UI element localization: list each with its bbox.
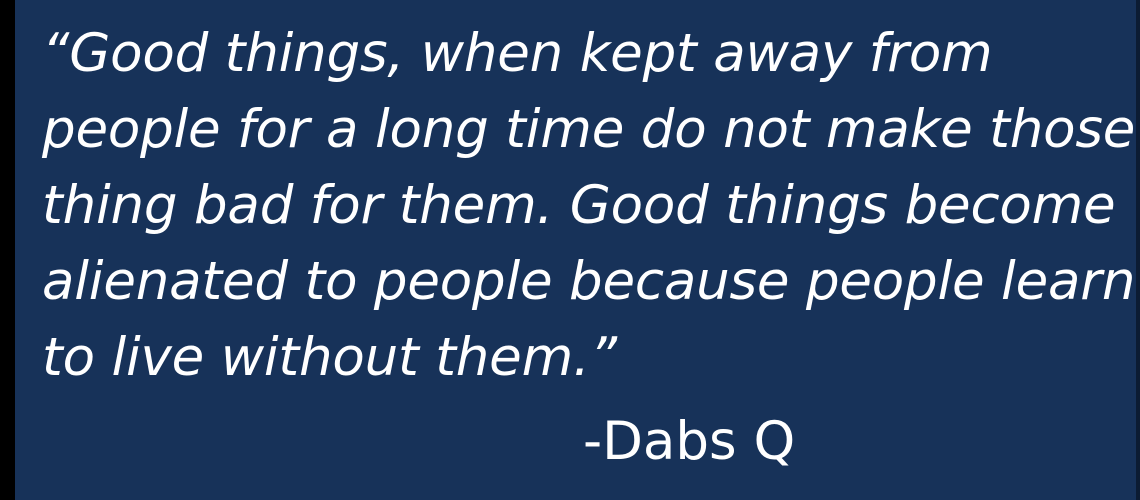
right-edge-border xyxy=(1136,0,1140,500)
left-black-border xyxy=(0,0,15,500)
quote-slide: “Good things, when kept away from people… xyxy=(0,0,1140,500)
quote-line-5: to live without them.” xyxy=(42,320,1112,396)
quote-text-block: “Good things, when kept away from people… xyxy=(42,16,1112,396)
quote-line-3: thing bad for them. Good things become xyxy=(42,168,1112,244)
quote-line-2: people for a long time do not make those xyxy=(42,92,1112,168)
slide-content: “Good things, when kept away from people… xyxy=(15,0,1140,500)
quote-attribution: -Dabs Q xyxy=(583,404,795,480)
attribution-row: -Dabs Q xyxy=(42,404,1112,480)
quote-line-1: “Good things, when kept away from xyxy=(42,16,1112,92)
quote-line-4: alienated to people because people learn xyxy=(42,244,1112,320)
